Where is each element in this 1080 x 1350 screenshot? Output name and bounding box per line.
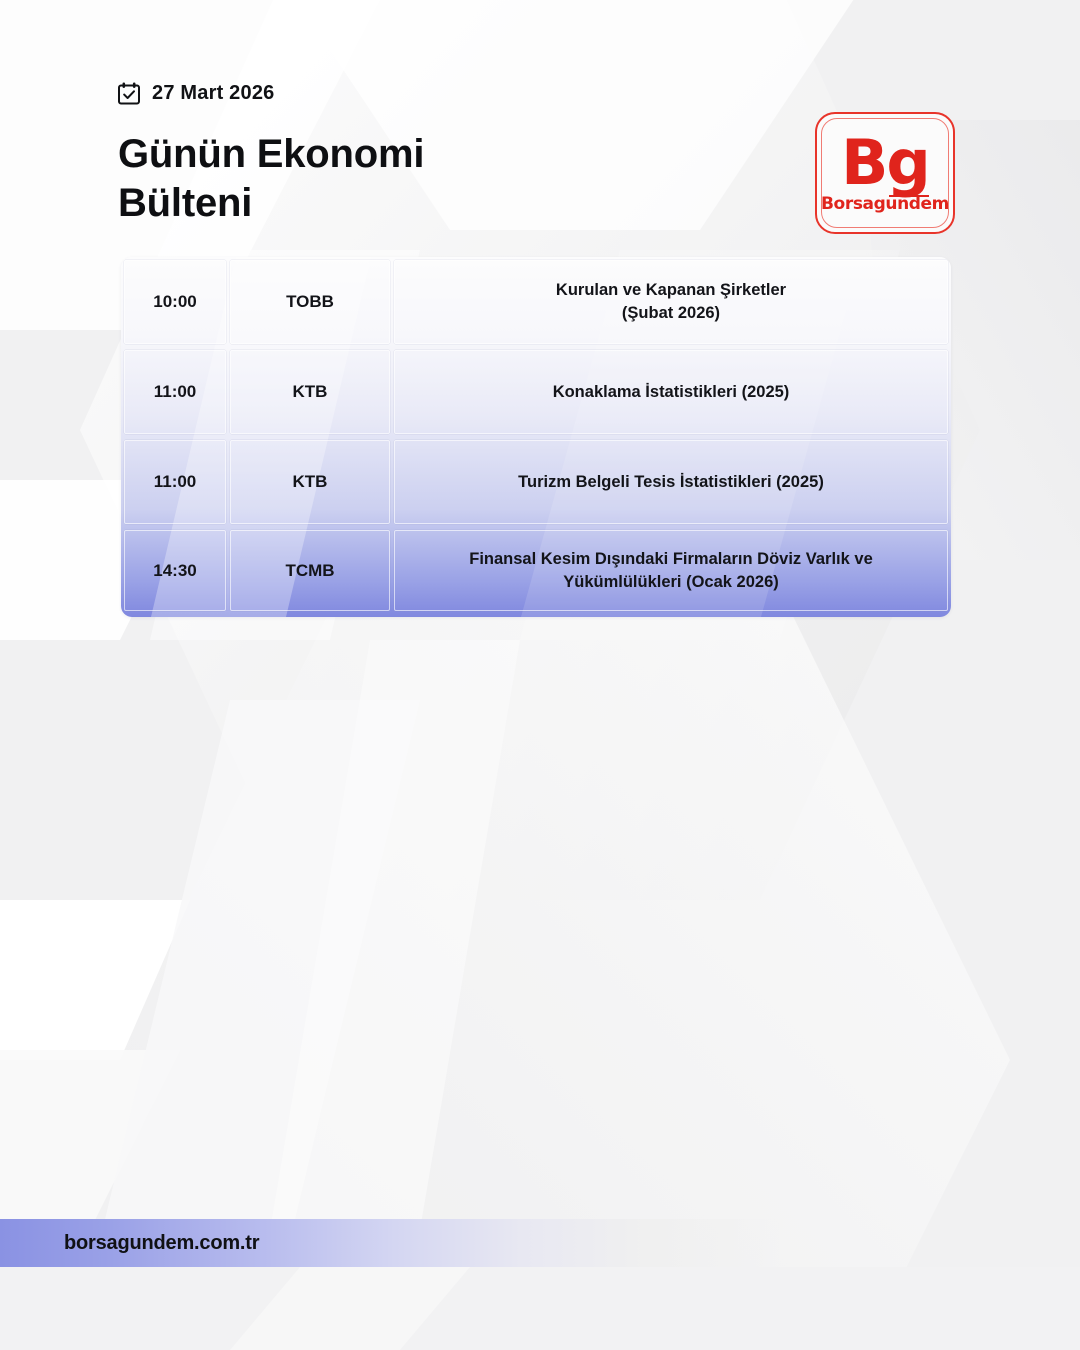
table-row[interactable]: 10:00 TOBB Kurulan ve Kapanan Şirketler … xyxy=(121,257,951,347)
table-row[interactable]: 11:00 KTB Turizm Belgeli Tesis İstatisti… xyxy=(121,437,951,527)
cell-description: Kurulan ve Kapanan Şirketler (Şubat 2026… xyxy=(394,260,948,344)
cell-source: KTB xyxy=(230,350,390,434)
table-row[interactable]: 11:00 KTB Konaklama İstatistikleri (2025… xyxy=(121,347,951,437)
cell-time: 11:00 xyxy=(124,440,226,524)
cell-description: Turizm Belgeli Tesis İstatistikleri (202… xyxy=(394,440,948,524)
cell-time: 11:00 xyxy=(124,350,226,434)
cell-description: Konaklama İstatistikleri (2025) xyxy=(394,350,948,434)
footer-bar: borsagundem.com.tr xyxy=(0,1219,790,1267)
logo-wordmark-text: Borsagundem xyxy=(821,194,949,214)
cell-description: Finansal Kesim Dışındaki Firmaların Dövi… xyxy=(394,530,948,611)
table-row[interactable]: 14:30 TCMB Finansal Kesim Dışındaki Firm… xyxy=(121,527,951,614)
logo-macron xyxy=(889,195,929,197)
bulletin-date: 27 Mart 2026 xyxy=(152,83,274,103)
page-title-line1: Günün Ekonomi xyxy=(118,130,548,179)
cell-time: 14:30 xyxy=(124,530,226,611)
cell-source: TOBB xyxy=(230,260,390,344)
cell-source: KTB xyxy=(230,440,390,524)
logo-mark: Bg xyxy=(841,136,929,189)
website-url[interactable]: borsagundem.com.tr xyxy=(64,1232,259,1255)
cell-description-line2: Yükümlülükleri (Ocak 2026) xyxy=(563,573,779,591)
cell-description-line1: Kurulan ve Kapanan Şirketler xyxy=(556,281,786,299)
page-title: Günün Ekonomi Bülteni xyxy=(118,130,548,228)
cell-source: TCMB xyxy=(230,530,390,611)
cell-description-line2: (Şubat 2026) xyxy=(622,304,720,322)
bulletin-page: 27 Mart 2026 Günün Ekonomi Bülteni Bg Bo… xyxy=(0,0,1080,1350)
calendar-check-icon xyxy=(118,82,140,105)
date-row: 27 Mart 2026 xyxy=(118,78,958,108)
economic-calendar-table: 10:00 TOBB Kurulan ve Kapanan Şirketler … xyxy=(121,257,951,617)
logo-wordmark: Borsagundem xyxy=(821,194,949,214)
cell-description-line1: Finansal Kesim Dışındaki Firmaların Dövi… xyxy=(469,550,873,568)
cell-time: 10:00 xyxy=(124,260,226,344)
borsagundem-logo[interactable]: Bg Borsagundem xyxy=(815,112,955,234)
page-title-line2: Bülteni xyxy=(118,179,548,228)
